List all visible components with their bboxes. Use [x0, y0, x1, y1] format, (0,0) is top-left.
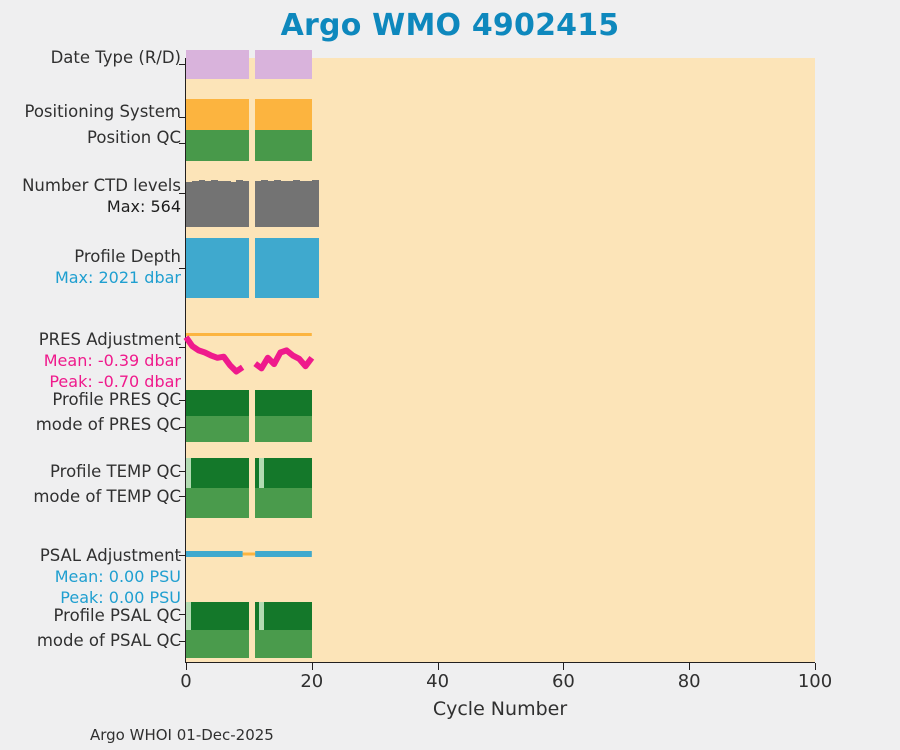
segment-0	[186, 130, 249, 161]
x-tick-0	[186, 663, 187, 670]
exception-stripe-1	[259, 458, 264, 488]
row-label-number-ctd-levels: Number CTD levels	[22, 178, 181, 195]
row-sublabel2-pres-adjustment: Peak: -0.70 dbar	[49, 374, 181, 390]
x-tick-60	[563, 663, 564, 670]
row-label-profile-temp-qc: Profile TEMP QC	[50, 464, 181, 481]
segment-0	[186, 99, 249, 130]
segment-1	[255, 50, 312, 79]
footer-note: Argo WHOI 01-Dec-2025	[90, 726, 274, 744]
row-label-profile-psal-qc: Profile PSAL QC	[53, 608, 181, 625]
row-label-psal-adjustment: PSAL Adjustment	[40, 548, 181, 565]
segment-0	[186, 488, 249, 518]
y-tick-7	[179, 427, 185, 428]
segment-0	[186, 416, 249, 442]
band-mode-of-pres-qc	[186, 416, 815, 442]
segment-0	[186, 602, 249, 630]
band-profile-psal-qc	[186, 602, 815, 630]
band-mode-of-psal-qc	[186, 630, 815, 658]
band-mode-of-temp-qc	[186, 488, 815, 518]
y-tick-3	[179, 193, 185, 194]
row-label-mode-of-temp-qc: mode of TEMP QC	[33, 489, 181, 506]
row-label-position-qc: Position QC	[87, 130, 181, 147]
exception-stripe-0	[186, 602, 191, 630]
y-tick-6	[179, 400, 185, 401]
exception-stripe-0	[186, 458, 191, 488]
row-label-column: Date Type (R/D)Positioning SystemPositio…	[0, 0, 181, 750]
bar-cycle-20	[312, 238, 319, 298]
trace-psal-adjustment	[186, 546, 815, 562]
row-label-positioning-system: Positioning System	[24, 104, 181, 121]
x-axis-line	[185, 662, 815, 663]
y-tick-9	[179, 496, 185, 497]
y-tick-12	[179, 641, 185, 642]
segment-1	[255, 130, 312, 161]
band-number-ctd-levels	[186, 180, 815, 227]
band-date-type-r-d-	[186, 50, 815, 79]
trace-pres-adjustment	[186, 330, 815, 376]
x-tick-40	[438, 663, 439, 670]
row-label-date-type: Date Type (R/D)	[51, 50, 181, 67]
y-tick-11	[179, 614, 185, 615]
x-tick-100	[815, 663, 816, 670]
segment-1	[255, 488, 312, 518]
x-axis-label: Cycle Number	[185, 698, 815, 720]
y-tick-1	[179, 117, 185, 118]
x-tick-label-60: 60	[523, 671, 603, 692]
bar-cycle-20	[312, 180, 319, 227]
segment-1	[255, 99, 312, 130]
row-label-mode-of-psal-qc: mode of PSAL QC	[37, 633, 181, 650]
segment-1	[255, 416, 312, 442]
bar-cycle-9	[243, 238, 250, 298]
band-positioning-system	[186, 99, 815, 130]
y-tick-4	[179, 268, 185, 269]
y-tick-5	[179, 347, 185, 348]
bar-cycle-9	[243, 181, 250, 227]
row-sublabel-pres-adjustment: Mean: -0.39 dbar	[44, 353, 181, 369]
row-label-pres-adjustment: PRES Adjustment	[39, 332, 181, 349]
trace-segment-0	[186, 337, 243, 371]
x-tick-label-0: 0	[146, 671, 226, 692]
x-tick-label-40: 40	[398, 671, 478, 692]
exception-stripe-1	[259, 602, 264, 630]
segment-0	[186, 458, 249, 488]
band-profile-depth	[186, 238, 815, 298]
segment-1	[255, 630, 312, 658]
segment-0	[186, 50, 249, 79]
row-sublabel-number-ctd-levels: Max: 564	[107, 199, 181, 215]
row-sublabel-profile-depth: Max: 2021 dbar	[55, 270, 181, 286]
row-sublabel-psal-adjustment: Mean: 0.00 PSU	[55, 569, 181, 585]
x-tick-80	[689, 663, 690, 670]
y-tick-8	[179, 471, 185, 472]
y-tick-0	[179, 64, 185, 65]
y-tick-2	[179, 143, 185, 144]
segment-0	[186, 630, 249, 658]
row-label-profile-depth: Profile Depth	[74, 249, 181, 266]
x-tick-20	[312, 663, 313, 670]
y-tick-10	[179, 555, 185, 556]
band-position-qc	[186, 130, 815, 161]
segment-1	[255, 390, 312, 416]
x-tick-label-20: 20	[272, 671, 352, 692]
row-sublabel2-psal-adjustment: Peak: 0.00 PSU	[60, 590, 181, 606]
band-profile-temp-qc	[186, 458, 815, 488]
row-label-profile-pres-qc: Profile PRES QC	[52, 392, 181, 409]
x-tick-label-80: 80	[649, 671, 729, 692]
x-tick-label-100: 100	[775, 671, 855, 692]
segment-0	[186, 390, 249, 416]
row-label-mode-of-pres-qc: mode of PRES QC	[36, 417, 181, 434]
trace-segment-1	[255, 350, 312, 368]
band-profile-pres-qc	[186, 390, 815, 416]
